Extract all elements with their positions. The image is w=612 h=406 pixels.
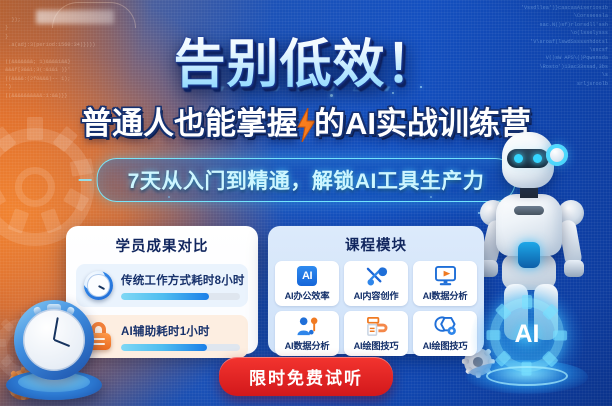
cta-button[interactable]: 限时免费试听 — [219, 357, 393, 396]
headline-container: 告别低效！ — [0, 22, 612, 97]
module-tile-data-1[interactable]: AI数据分析 — [413, 261, 477, 306]
module-tile-content[interactable]: AI内容创作 — [344, 261, 408, 306]
module-tile-office[interactable]: AI AI办公效率 — [275, 261, 339, 306]
person-chart-icon — [276, 315, 338, 337]
module-label-data-2: AI数据分析 — [276, 338, 338, 352]
module-tile-draw-2[interactable]: AI绘图技巧 — [413, 311, 477, 356]
module-label-office: AI办公效率 — [276, 288, 338, 302]
module-tile-draw-1[interactable]: AI绘图技巧 — [344, 311, 408, 356]
monitor-play-icon — [414, 265, 476, 287]
stopwatch-illustration — [6, 288, 102, 400]
progress-bar-ai — [121, 344, 240, 351]
modules-grid: AI AI办公效率 AI内容创作 — [268, 255, 484, 356]
module-tile-data-2[interactable]: AI数据分析 — [275, 311, 339, 356]
course-modules-card: 课程模块 AI AI办公效率 AI内容创作 — [268, 226, 484, 354]
tagline-badge: 7天从入门到精通，解锁AI工具生产力 — [97, 158, 516, 202]
lightning-bolt-icon — [296, 108, 316, 142]
hexagon-gear-icon — [414, 315, 476, 337]
ai-badge-icon: AI — [276, 265, 338, 287]
pen-tools-icon — [345, 265, 407, 287]
module-label-data-1: AI数据分析 — [414, 288, 476, 302]
results-card-title: 学员成果对比 — [66, 226, 258, 256]
comparison-label-traditional: 传统工作方式耗时8小时 — [121, 272, 240, 288]
progress-bar-traditional — [121, 293, 240, 300]
printer-brush-icon — [345, 315, 407, 337]
module-label-draw-1: AI绘图技巧 — [345, 338, 407, 352]
comparison-label-ai: AI辅助耗时1小时 — [121, 323, 240, 339]
headline-title: 告别低效 — [173, 22, 385, 97]
ai-emblem-label: AI — [480, 320, 574, 349]
headline-exclamation: ！ — [386, 22, 439, 97]
modules-card-title: 课程模块 — [268, 226, 484, 255]
promo-banner: }); } } .a(adj:3(period:1560:34)}))) ((&… — [0, 0, 612, 406]
module-label-draw-2: AI绘图技巧 — [414, 338, 476, 352]
module-label-content: AI内容创作 — [345, 288, 407, 302]
ai-gear-emblem: AI — [480, 294, 574, 388]
subheadline-part-a: 普通人也能掌握 — [81, 98, 298, 143]
